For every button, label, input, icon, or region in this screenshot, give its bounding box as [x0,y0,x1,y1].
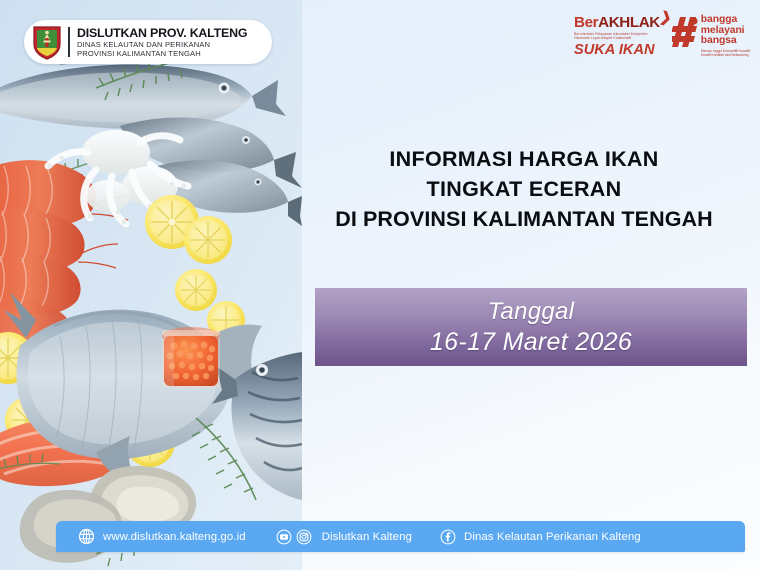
bangga-tagline-line2: Kreatif Kredibel dan Networking [701,53,750,57]
website-link[interactable]: www.dislutkan.kalteng.go.id [78,528,246,545]
social-links[interactable]: Dislutkan Kalteng [276,529,412,545]
poster-slide: DISLUTKAN PROV. KALTENG DINAS KELAUTAN D… [0,0,760,570]
social-handle-label: Dislutkan Kalteng [322,531,412,543]
title-line-2: TINGKAT ECERAN [300,174,748,204]
facebook-icon [440,529,456,545]
berakhlak-values: Berorientasi Pelayanan Akuntabel Kompete… [574,32,670,41]
title-line-1: INFORMASI HARGA IKAN [300,144,748,174]
campaign-logos: BerAKHLAK ❯ Berorientasi Pelayanan Akunt… [574,10,750,66]
facebook-page-label: Dinas Kelautan Perikanan Kalteng [464,531,641,543]
instagram-icon[interactable] [296,529,312,545]
facebook-link[interactable]: Dinas Kelautan Perikanan Kalteng [440,529,641,545]
seafood-photo [0,0,302,570]
website-label: www.dislutkan.kalteng.go.id [103,531,246,543]
berakhlak-values-line2: Harmonis Loyal Adaptif Kolaboratif [574,36,670,41]
date-panel: Tanggal 16-17 Maret 2026 [315,288,747,366]
agency-short-name: DISLUTKAN PROV. KALTENG [77,27,247,39]
globe-icon [78,528,95,545]
kalteng-provincial-emblem-shield-icon [32,24,62,60]
page-title: INFORMASI HARGA IKAN TINGKAT ECERAN DI P… [300,144,748,234]
bangga-melayani-bangsa-hash-icon [672,15,698,49]
date-value: 16-17 Maret 2026 [430,327,632,357]
agency-name-line1: DINAS KELAUTAN DAN PERIKANAN [77,41,247,49]
agency-name-line2: PROVINSI KALIMANTAN TENGAH [77,50,247,58]
berakhlak-logo: BerAKHLAK ❯ Berorientasi Pelayanan Akunt… [574,10,670,58]
title-line-3: DI PROVINSI KALIMANTAN TENGAH [300,204,748,234]
suka-ikan-slogan: SUKA IKAN [574,42,670,58]
agency-logo-pill: DISLUTKAN PROV. KALTENG DINAS KELAUTAN D… [24,20,272,64]
bangga-line1: bangga [701,15,750,26]
logo-divider [68,27,70,57]
bangga-line3: bangsa [701,36,750,47]
date-label: Tanggal [488,297,575,327]
berakhlak-wordmark: BerAKHLAK [574,14,670,31]
bangga-melayani-bangsa-logo: bangga melayani bangsa Menuju Inggul Kom… [672,10,750,57]
youtube-icon[interactable] [276,529,292,545]
footer-bar: www.dislutkan.kalteng.go.id Dislutkan Ka… [56,521,745,552]
